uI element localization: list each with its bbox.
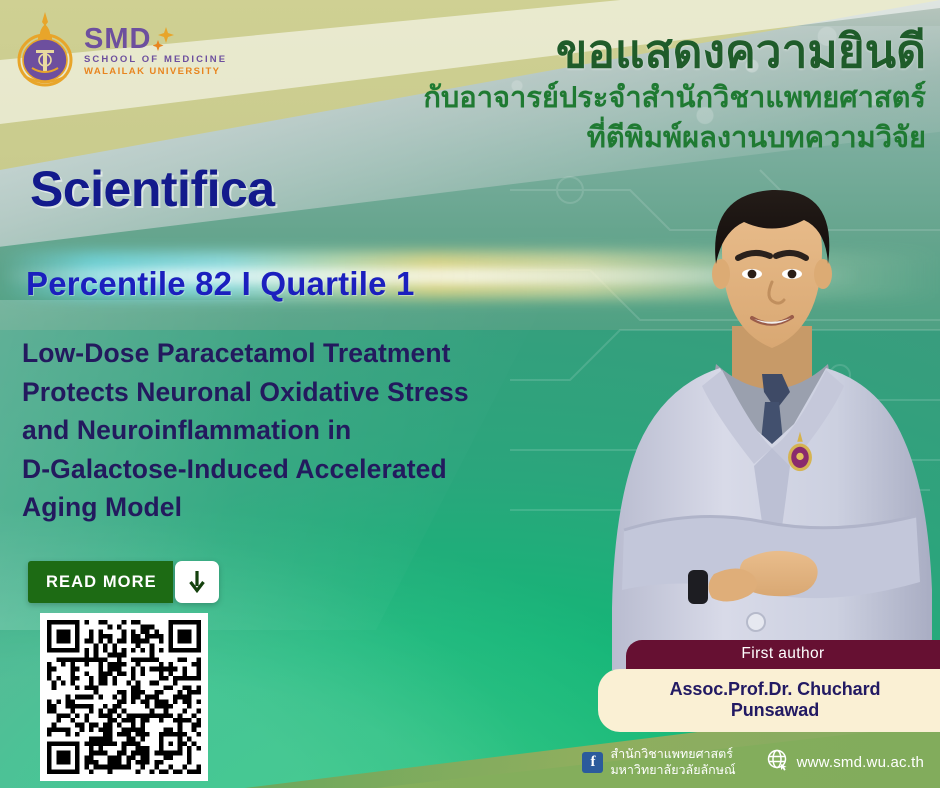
article-title-line: Aging Model [22, 488, 582, 527]
smd-logo: SMD SCHOOL OF MEDICINE WALAILAK UNIVERSI… [14, 10, 227, 88]
article-title-line: Protects Neuronal Oxidative Stress [22, 373, 582, 412]
facebook-page-name: สำนักวิชาแพทยศาสตร์ มหาวิทยาลัยวลัยลักษณ… [610, 746, 735, 778]
heading-line-1: ขอแสดงความยินดี [423, 24, 926, 78]
qr-code[interactable] [40, 613, 208, 781]
author-block: First author Assoc.Prof.Dr. Chuchard Pun… [540, 640, 940, 732]
author-role-badge: First author [626, 640, 940, 669]
read-more-button[interactable]: READ MORE [28, 561, 219, 603]
walailak-university-emblem-icon [14, 10, 76, 88]
journal-name: Scientifica [30, 160, 275, 218]
down-arrow-icon[interactable] [175, 561, 219, 603]
heading-line-2: กับอาจารย์ประจำสำนักวิชาแพทยศาสตร์ [423, 78, 926, 118]
website-url: www.smd.wu.ac.th [797, 754, 924, 771]
heading-line-3: ที่ตีพิมพ์ผลงานบทความวิจัย [423, 118, 926, 158]
article-title: Low-Dose Paracetamol Treatment Protects … [22, 334, 582, 527]
logo-school-line: SCHOOL OF MEDICINE [84, 54, 227, 66]
author-name: Assoc.Prof.Dr. Chuchard Punsawad [598, 669, 940, 732]
globe-icon [766, 748, 790, 777]
read-more-label: READ MORE [28, 561, 173, 603]
logo-acronym: SMD [84, 26, 151, 54]
journal-metrics: Percentile 82 I Quartile 1 [26, 265, 415, 303]
footer-contacts: f สำนักวิชาแพทยศาสตร์ มหาวิทยาลัยวลัยลัก… [582, 746, 924, 778]
first-author-portrait [604, 178, 940, 670]
website-contact[interactable]: www.smd.wu.ac.th [766, 748, 924, 777]
facebook-icon: f [582, 752, 603, 773]
article-title-line: and Neuroinflammation in [22, 411, 582, 450]
article-title-line: D-Galactose-Induced Accelerated [22, 450, 582, 489]
article-title-line: Low-Dose Paracetamol Treatment [22, 334, 582, 373]
sparkle-icon [153, 26, 175, 52]
facebook-contact[interactable]: f สำนักวิชาแพทยศาสตร์ มหาวิทยาลัยวลัยลัก… [582, 746, 735, 778]
congratulations-poster: SMD SCHOOL OF MEDICINE WALAILAK UNIVERSI… [0, 0, 940, 788]
congratulations-heading: ขอแสดงความยินดี กับอาจารย์ประจำสำนักวิชา… [423, 24, 926, 158]
logo-university-line: WALAILAK UNIVERSITY [84, 66, 227, 78]
